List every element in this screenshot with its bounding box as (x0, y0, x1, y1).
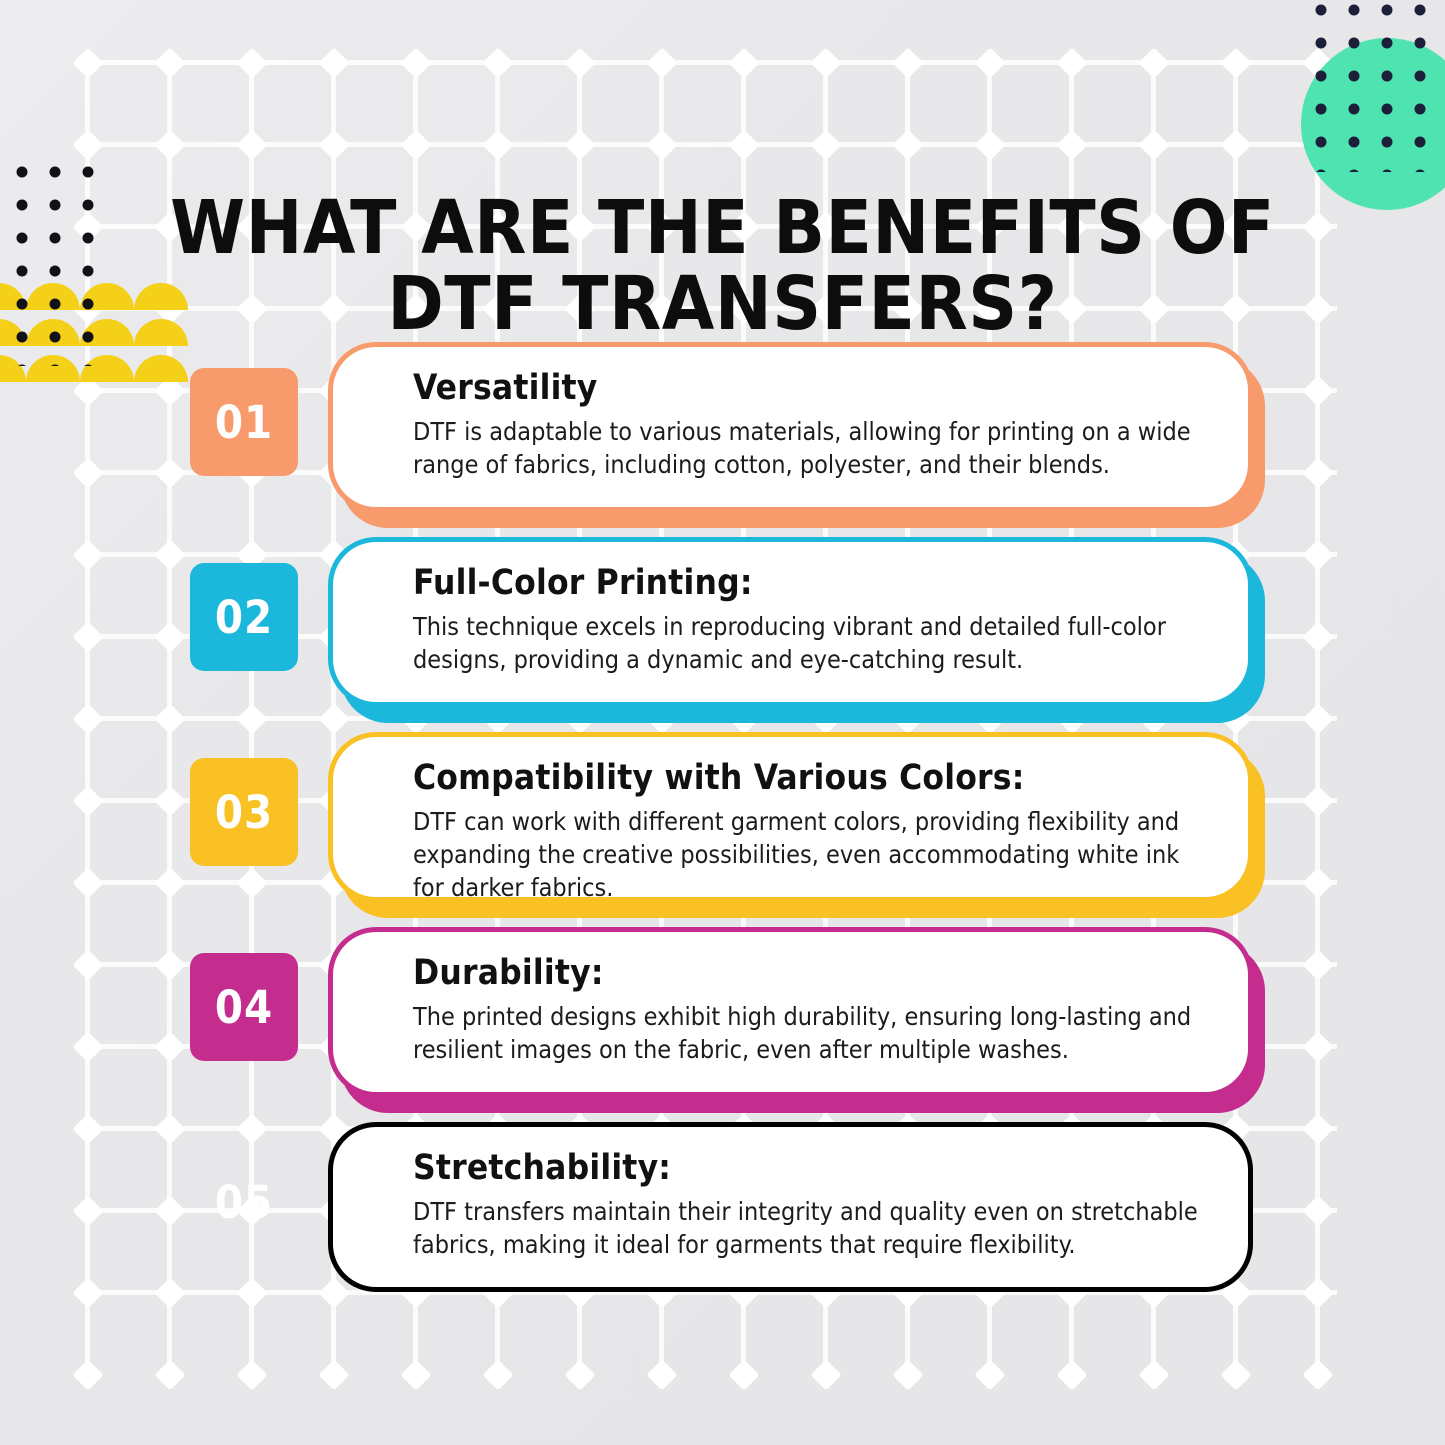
grid-diamond (1056, 47, 1087, 78)
benefit-number-badge: 04 (190, 953, 298, 1061)
grid-diamond (1302, 293, 1333, 324)
grid-diamond (646, 1359, 677, 1390)
benefit-number-badge: 05 (190, 1148, 298, 1256)
grid-diamond (564, 1359, 595, 1390)
grid-diamond (974, 1359, 1005, 1390)
benefit-card: Stretchability:DTF transfers maintain th… (328, 1122, 1253, 1292)
benefit-card-wrapper: Full-Color Printing:This technique excel… (328, 537, 1253, 707)
grid-diamond (154, 47, 185, 78)
grid-diamond (646, 47, 677, 78)
benefit-card-wrapper: Durability:The printed designs exhibit h… (328, 927, 1253, 1097)
grid-diamond (1220, 47, 1251, 78)
grid-diamond (646, 129, 677, 160)
grid-diamond (974, 47, 1005, 78)
grid-diamond (564, 129, 595, 160)
benefit-heading: Stretchability: (413, 1147, 1214, 1189)
grid-diamond (236, 1359, 267, 1390)
benefit-item: 04Durability:The printed designs exhibit… (0, 925, 1445, 1120)
grid-diamond (318, 47, 349, 78)
grid-diamond (236, 129, 267, 160)
grid-diamond (728, 47, 759, 78)
infographic-canvas: WHAT ARE THE BENEFITS OF DTF TRANSFERS? … (0, 0, 1445, 1445)
grid-diamond (400, 47, 431, 78)
grid-diamond (72, 1359, 103, 1390)
benefit-card-wrapper: Compatibility with Various Colors:DTF ca… (328, 732, 1253, 902)
grid-diamond (1138, 47, 1169, 78)
grid-diamond (1056, 1359, 1087, 1390)
benefit-card-wrapper: Stretchability:DTF transfers maintain th… (328, 1122, 1253, 1292)
benefit-body-text: The printed designs exhibit high durabil… (413, 1000, 1214, 1066)
benefit-card: VersatilityDTF is adaptable to various m… (328, 342, 1253, 512)
grid-diamond (1056, 129, 1087, 160)
benefit-heading: Versatility (413, 367, 1214, 409)
grid-diamond (892, 1359, 923, 1390)
grid-diamond (154, 1359, 185, 1390)
grid-diamond (564, 47, 595, 78)
benefit-item: 03Compatibility with Various Colors:DTF … (0, 730, 1445, 925)
grid-diamond (318, 1359, 349, 1390)
benefit-body-text: This technique excels in reproducing vib… (413, 610, 1214, 676)
grid-diamond (810, 1359, 841, 1390)
benefit-card: Durability:The printed designs exhibit h… (328, 927, 1253, 1097)
grid-diamond (482, 129, 513, 160)
grid-diamond (1220, 129, 1251, 160)
benefit-number-badge: 03 (190, 758, 298, 866)
benefit-number-badge: 01 (190, 368, 298, 476)
grid-diamond (728, 1359, 759, 1390)
benefit-card-wrapper: VersatilityDTF is adaptable to various m… (328, 342, 1253, 512)
benefit-item: 05Stretchability:DTF transfers maintain … (0, 1120, 1445, 1315)
grid-diamond (728, 129, 759, 160)
grid-diamond (892, 129, 923, 160)
grid-diamond (810, 47, 841, 78)
grid-diamond (1302, 1359, 1333, 1390)
benefit-heading: Durability: (413, 952, 1214, 994)
grid-diamond (1302, 211, 1333, 242)
grid-diamond (892, 47, 923, 78)
benefit-body-text: DTF can work with different garment colo… (413, 805, 1214, 904)
benefit-number-badge: 02 (190, 563, 298, 671)
grid-diamond (1138, 129, 1169, 160)
grid-diamond (400, 129, 431, 160)
grid-diamond (1220, 1359, 1251, 1390)
grid-diamond (810, 129, 841, 160)
grid-diamond (1138, 1359, 1169, 1390)
grid-diamond (72, 47, 103, 78)
page-title: WHAT ARE THE BENEFITS OF DTF TRANSFERS? (169, 190, 1276, 342)
grid-diamond (400, 1359, 431, 1390)
black-dot-grid-decoration (16, 166, 100, 366)
benefit-body-text: DTF is adaptable to various materials, a… (413, 415, 1214, 481)
benefit-item: 01VersatilityDTF is adaptable to various… (0, 340, 1445, 535)
grid-diamond (318, 129, 349, 160)
benefit-card: Full-Color Printing:This technique excel… (328, 537, 1253, 707)
benefit-body-text: DTF transfers maintain their integrity a… (413, 1195, 1214, 1261)
navy-dot-grid-decoration (1315, 4, 1427, 172)
grid-diamond (482, 1359, 513, 1390)
benefit-heading: Compatibility with Various Colors: (413, 757, 1214, 799)
benefit-card: Compatibility with Various Colors:DTF ca… (328, 732, 1253, 902)
grid-diamond (974, 129, 1005, 160)
benefit-item: 02Full-Color Printing:This technique exc… (0, 535, 1445, 730)
grid-diamond (236, 47, 267, 78)
benefit-heading: Full-Color Printing: (413, 562, 1214, 604)
benefits-list: 01VersatilityDTF is adaptable to various… (0, 340, 1445, 1315)
grid-diamond (482, 47, 513, 78)
grid-diamond (72, 129, 103, 160)
grid-diamond (154, 129, 185, 160)
